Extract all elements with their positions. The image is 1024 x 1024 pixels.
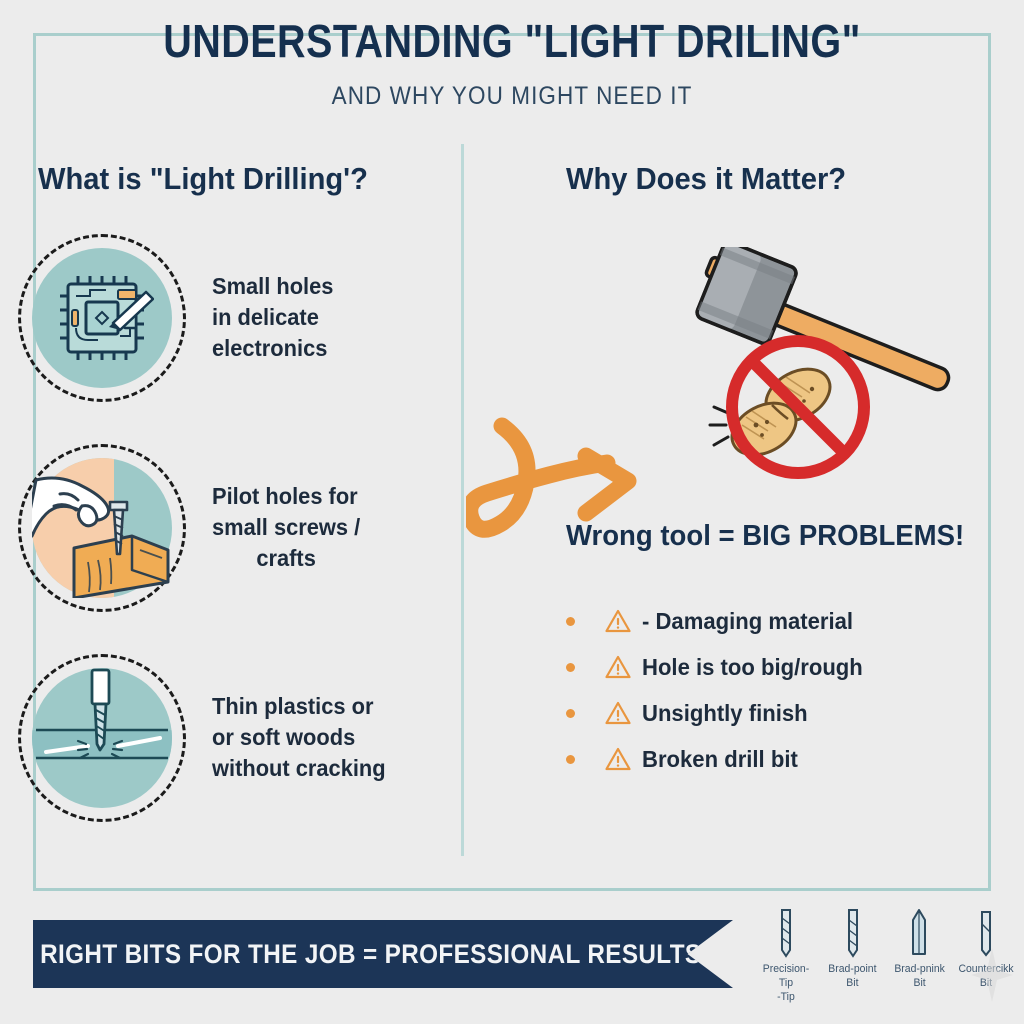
legend-label: Brad-pointBit [829, 963, 877, 991]
legend-item: Brad-pninkBit [888, 906, 950, 1018]
list-item: Broken drill bit [566, 736, 966, 782]
medallion-thin-sheet [18, 654, 186, 822]
list-item-line: Small holes [212, 273, 333, 299]
curly-arrow-icon [466, 410, 656, 610]
bullet-dot-icon [566, 755, 575, 764]
warning-triangle-icon [605, 609, 631, 633]
list-item-label: Broken drill bit [642, 746, 798, 773]
list-item-text: Thin plastics or or soft woods without c… [212, 691, 386, 784]
bullet-dot-icon [566, 663, 575, 672]
infographic-poster: UNDERSTANDING "LIGHT DRILING" AND WHY YO… [0, 0, 1024, 1024]
legend-item: Brad-pointBit [822, 906, 884, 1018]
medallion-circuit [18, 234, 186, 402]
warning-triangle-icon [605, 701, 631, 725]
list-item-label: Hole is too big/rough [642, 654, 863, 681]
list-item: - Damaging material [566, 598, 966, 644]
bullet-dot-icon [566, 617, 575, 626]
drill-bit-sheet-icon [32, 668, 172, 808]
sparkle-icon [969, 946, 1015, 1004]
list-item-text: Pilot holes for small screws / crafts [212, 481, 360, 574]
prohibition-sign-icon [732, 341, 864, 473]
circuit-board-icon [50, 266, 154, 370]
list-item-label: Unsightly finish [642, 700, 808, 727]
callout-text: Wrong tool = BIG PROBLEMS! [566, 520, 964, 553]
list-item-line: or soft woods [212, 722, 386, 753]
list-item: Pilot holes for small screws / crafts [18, 440, 448, 615]
legend-label: Brad-pninkBit [894, 963, 945, 991]
list-item-line: crafts [212, 543, 360, 574]
footer-ribbon-text: RIGHT BITS FOR THE JOB = PROFESSIONAL RE… [40, 939, 701, 970]
bullet-dot-icon [566, 709, 575, 718]
list-item: Small holes in delicate electronics [18, 230, 448, 405]
warning-triangle-icon [605, 747, 631, 771]
hand-screw-wood-icon [32, 458, 172, 598]
page-title: UNDERSTANDING "LIGHT DRILING" [72, 14, 953, 68]
twist-drill-bit-icon [843, 906, 863, 958]
list-item-line: small screws / [212, 512, 360, 543]
page-subtitle: AND WHY YOU MIGHT NEED IT [51, 82, 973, 111]
left-column-heading: What is "Light Drilling'? [38, 161, 368, 197]
list-item: Thin plastics or or soft woods without c… [18, 650, 448, 825]
brad-point-bit-icon [909, 906, 929, 958]
footer-ribbon: RIGHT BITS FOR THE JOB = PROFESSIONAL RE… [33, 920, 733, 988]
drill-bit-legend: Precision-Tip-Tip Brad-pointBit [755, 906, 1017, 1018]
medallion-pilot-hole [18, 444, 186, 612]
legend-item: Precision-Tip-Tip [755, 906, 817, 1018]
list-item: Unsightly finish [566, 690, 966, 736]
list-item: Hole is too big/rough [566, 644, 966, 690]
list-item-line: electronics [212, 333, 333, 364]
warning-triangle-icon [605, 655, 631, 679]
twist-drill-bit-icon [776, 906, 796, 958]
list-item-line: Thin plastics or [212, 693, 373, 719]
column-divider [461, 144, 464, 856]
list-item-line: in delicate [212, 302, 333, 333]
list-item-label: - Damaging material [642, 608, 853, 635]
legend-label: Precision-Tip-Tip [757, 963, 816, 1004]
sledgehammer-peanut-prohibited-icon [672, 247, 972, 497]
list-item-line: without cracking [212, 753, 386, 784]
problem-list: - Damaging material Hole is too big/roug… [566, 598, 966, 782]
right-column-heading: Why Does it Matter? [566, 161, 846, 197]
list-item-line: Pilot holes for [212, 483, 358, 509]
list-item-text: Small holes in delicate electronics [212, 271, 333, 364]
